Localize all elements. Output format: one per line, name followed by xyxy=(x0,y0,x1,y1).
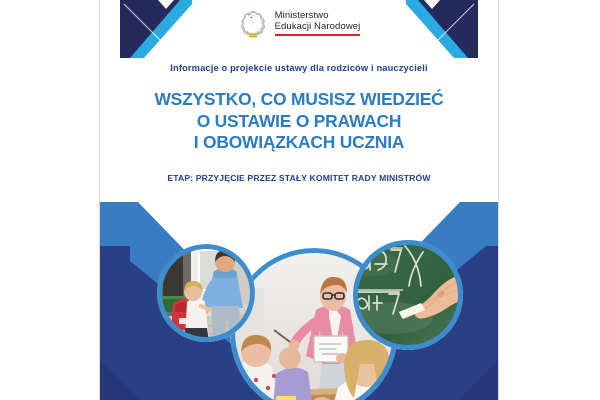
kicker-text: Informacje o projekcie ustawy dla rodzic… xyxy=(122,62,476,74)
title-line-3: I OBOWIĄZKACH UCZNIA xyxy=(122,132,476,154)
photo-hand-writing-on-chalkboard xyxy=(353,240,463,350)
ministry-red-rule xyxy=(275,34,361,36)
stage-label: ETAP: PRZYJĘCIE PRZEZ STAŁY KOMITET RADY… xyxy=(122,173,476,184)
headline-block: Informacje o projekcie ustawy dla rodzic… xyxy=(100,62,498,184)
ministry-logo: Ministerstwo Edukacji Narodowej xyxy=(100,8,498,40)
polish-eagle-emblem-icon xyxy=(238,8,268,40)
screenshot-viewport: Ministerstwo Edukacji Narodowej Informac… xyxy=(0,0,600,400)
title-line-1: WSZYSTKO, CO MUSISZ WIEDZIEĆ xyxy=(122,89,476,111)
flyer-page: Ministerstwo Edukacji Narodowej Informac… xyxy=(100,0,498,400)
ministry-line-2: Edukacji Narodowej xyxy=(275,21,361,32)
photo-parent-and-child-image xyxy=(157,244,255,342)
photo-collage-band xyxy=(100,200,498,400)
title-line-2: O USTAWIE O PRAWACH xyxy=(122,111,476,133)
page-title: WSZYSTKO, CO MUSISZ WIEDZIEĆ O USTAWIE O… xyxy=(122,89,476,154)
ministry-line-1: Ministerstwo xyxy=(275,10,361,21)
photo-chalkboard-image xyxy=(353,240,463,350)
photo-parent-and-child-at-school xyxy=(157,244,255,342)
ministry-name-block: Ministerstwo Edukacji Narodowej xyxy=(275,8,361,36)
